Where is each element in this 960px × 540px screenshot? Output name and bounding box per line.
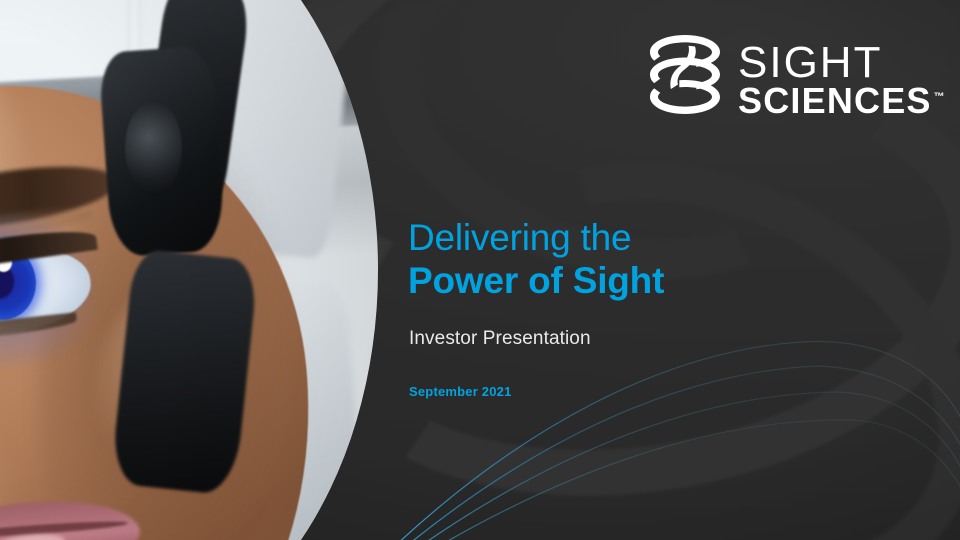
presentation-slide: SIGHT SCIENCES™ Delivering the Power of …: [0, 0, 960, 540]
photo-depth-softening: [0, 0, 378, 540]
slide-title: Delivering the Power of Sight: [408, 218, 908, 301]
logo-wordmark: SIGHT SCIENCES™: [738, 42, 945, 118]
logo-word-sight: SIGHT: [738, 42, 945, 84]
title-line-one: Delivering the: [408, 218, 908, 258]
slide-subtitle: Investor Presentation: [409, 328, 591, 350]
logo-word-sciences-text: SCIENCES: [738, 80, 932, 121]
slide-date: September 2021: [409, 384, 512, 399]
eye-examination-photo: [0, 0, 378, 540]
logo-word-sciences: SCIENCES™: [738, 84, 945, 118]
company-logo: SIGHT SCIENCES™: [648, 33, 945, 127]
title-line-two: Power of Sight: [408, 260, 908, 301]
sight-sciences-s-mark-icon: [648, 33, 722, 127]
trademark-symbol: ™: [934, 91, 945, 103]
hero-photo: [0, 0, 378, 540]
